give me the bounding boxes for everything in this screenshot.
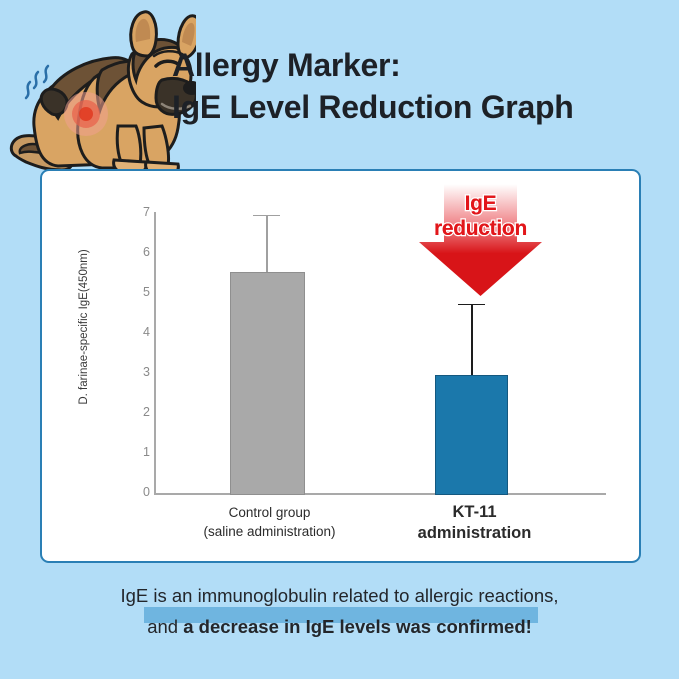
x-axis-line xyxy=(154,493,606,495)
errorbar-cap-kt11 xyxy=(458,304,485,306)
y-tick-5: 5 xyxy=(132,286,150,298)
title-line-2: IgE Level Reduction Graph xyxy=(172,86,662,128)
errorbar-cap-control xyxy=(253,215,280,217)
errorbar-line-control xyxy=(266,216,268,272)
errorbar-line-kt11 xyxy=(471,305,473,375)
y-tick-0: 0 xyxy=(132,486,150,498)
y-tick-3: 3 xyxy=(132,366,150,378)
scratching-dog-illustration xyxy=(6,6,196,186)
bar-kt11-group xyxy=(435,375,508,495)
x-tick-label-control: Control group (saline administration) xyxy=(182,503,357,541)
y-tick-4: 4 xyxy=(132,326,150,338)
caption-line-2-bold: a decrease in IgE levels was confirmed! xyxy=(183,616,532,637)
callout-text: IgE reduction xyxy=(418,191,543,241)
bar-control-group xyxy=(230,272,305,495)
y-axis-label: D. farinae-specific IgE(450nm) xyxy=(78,217,90,437)
callout-line-1: IgE xyxy=(418,191,543,216)
page-title: Allergy Marker: IgE Level Reduction Grap… xyxy=(172,44,662,128)
y-axis-line xyxy=(154,212,156,495)
x-tick-label-kt11-line2: administration xyxy=(387,523,562,544)
x-tick-label-kt11: KT-11 administration xyxy=(387,502,562,544)
caption-block: IgE is an immunoglobulin related to alle… xyxy=(0,580,679,642)
y-axis-ticks: 7 6 5 4 3 2 1 0 xyxy=(128,171,150,565)
igE-reduction-callout: IgE reduction IgE reduction xyxy=(418,184,543,297)
title-line-1: Allergy Marker: xyxy=(172,44,662,86)
x-tick-label-control-line2: (saline administration) xyxy=(182,522,357,541)
chart-panel: D. farinae-specific IgE(450nm) 7 6 5 4 3… xyxy=(40,169,641,563)
y-tick-7: 7 xyxy=(132,206,150,218)
callout-line-2: reduction xyxy=(418,216,543,241)
y-tick-1: 1 xyxy=(132,446,150,458)
y-tick-2: 2 xyxy=(132,406,150,418)
x-tick-label-control-line1: Control group xyxy=(182,503,357,522)
y-tick-6: 6 xyxy=(132,246,150,258)
bar-chart: D. farinae-specific IgE(450nm) 7 6 5 4 3… xyxy=(42,171,643,565)
caption-line-2-prefix: and xyxy=(147,616,183,637)
infographic-root: Allergy Marker: IgE Level Reduction Grap… xyxy=(0,0,679,679)
x-tick-label-kt11-line1: KT-11 xyxy=(387,502,562,523)
caption-line-2: and a decrease in IgE levels was confirm… xyxy=(0,611,679,642)
